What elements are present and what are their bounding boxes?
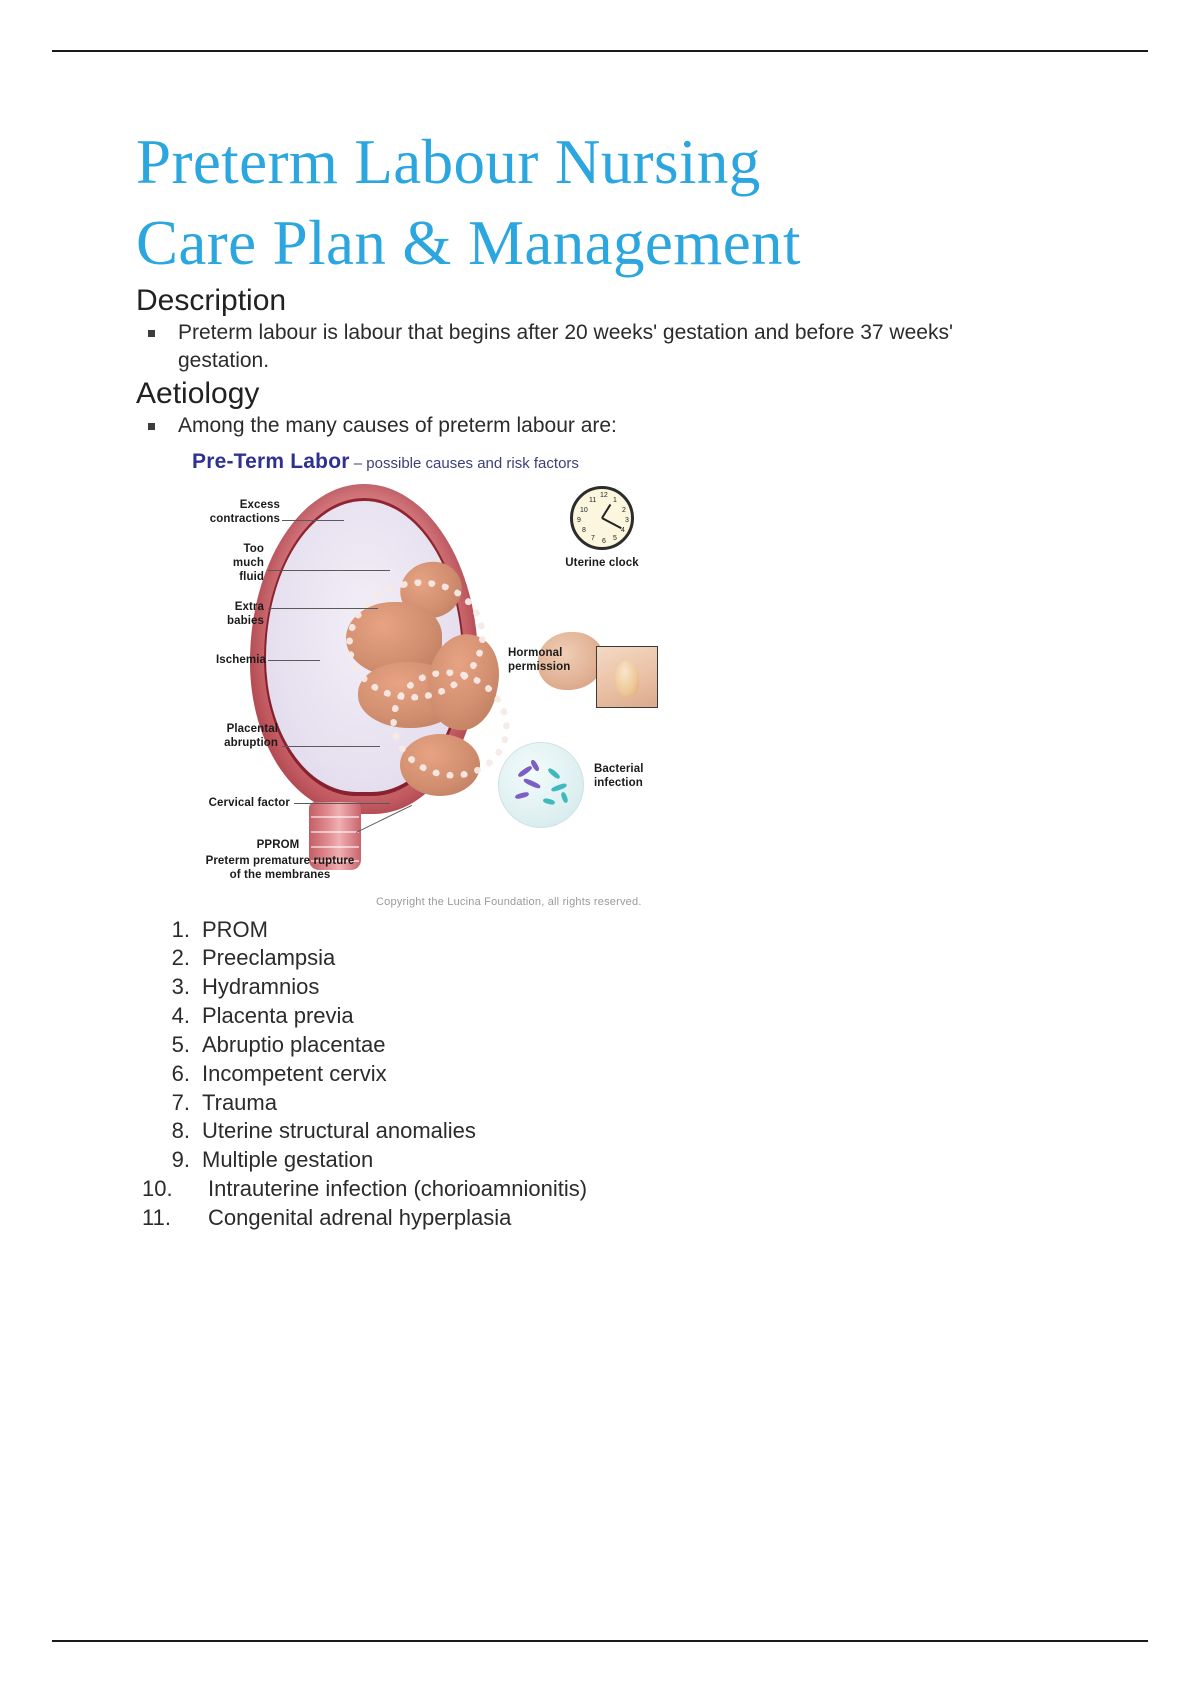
leader-line	[268, 570, 390, 571]
leader-line	[282, 520, 344, 521]
page-title: Preterm Labour Nursing Care Plan & Manag…	[136, 122, 1036, 283]
placental-abruption-label: Placental abruption	[176, 722, 278, 750]
list-number: 3.	[142, 973, 190, 1002]
square-bullet-icon	[148, 330, 155, 337]
bullet-text: Preterm labour is labour that begins aft…	[178, 321, 953, 372]
figure-title-bold: Pre-Term Labor	[192, 450, 350, 473]
square-bullet-icon	[148, 423, 155, 430]
list-item: 2.Preeclampsia	[136, 944, 1036, 973]
list-label: Congenital adrenal hyperplasia	[208, 1205, 511, 1230]
extra-babies-label: Extra babies	[186, 600, 264, 628]
list-label: Trauma	[202, 1090, 277, 1115]
list-item: 6.Incompetent cervix	[136, 1060, 1036, 1089]
list-number: 7.	[142, 1089, 190, 1118]
description-bullet-list: Preterm labour is labour that begins aft…	[136, 319, 1036, 375]
list-item: 11.Congenital adrenal hyperplasia	[136, 1204, 1036, 1233]
too-much-fluid-label: Too much fluid	[186, 542, 264, 584]
ischemia-label: Ischemia	[178, 653, 266, 667]
list-label: Intrauterine infection (chorioamnionitis…	[208, 1176, 587, 1201]
list-item: 8.Uterine structural anomalies	[136, 1117, 1036, 1146]
bacteria-illustration	[498, 742, 584, 828]
list-item: 9.Multiple gestation	[136, 1146, 1036, 1175]
uterine-clock-label: Uterine clock	[554, 556, 650, 570]
list-number: 10.	[142, 1175, 184, 1204]
list-label: Hydramnios	[202, 974, 319, 999]
figure-copyright: Copyright the Lucina Foundation, all rig…	[376, 896, 642, 908]
leader-line	[282, 746, 380, 747]
list-label: Abruptio placentae	[202, 1032, 385, 1057]
uterus-illustration	[250, 484, 478, 814]
document-content: Preterm Labour Nursing Care Plan & Manag…	[136, 122, 1036, 1233]
document-page: Preterm Labour Nursing Care Plan & Manag…	[0, 0, 1200, 1700]
list-label: Multiple gestation	[202, 1147, 373, 1172]
list-number: 2.	[142, 944, 190, 973]
figure-title-subtitle: – possible causes and risk factors	[350, 455, 579, 472]
bacterial-infection-label: Bacterial infection	[594, 762, 690, 790]
bullet-text: Among the many causes of preterm labour …	[178, 414, 617, 437]
list-number: 1.	[142, 916, 190, 945]
list-label: PROM	[202, 917, 268, 942]
pituitary-inset-box	[596, 646, 658, 708]
aetiology-bullet-list: Among the many causes of preterm labour …	[136, 412, 1036, 440]
aetiology-heading: Aetiology	[136, 376, 1036, 412]
pprom-abbrev-label: PPROM	[206, 838, 350, 852]
list-number: 11.	[142, 1204, 184, 1233]
causes-numbered-list: 1.PROM 2.Preeclampsia 3.Hydramnios 4.Pla…	[136, 916, 1036, 1233]
list-item: 4.Placenta previa	[136, 1002, 1036, 1031]
list-item: Preterm labour is labour that begins aft…	[136, 319, 1036, 375]
list-item: 3.Hydramnios	[136, 973, 1036, 1002]
list-label: Preeclampsia	[202, 945, 335, 970]
header-rule	[52, 50, 1148, 52]
list-item: 7.Trauma	[136, 1089, 1036, 1118]
excess-contractions-label: Excess contractions	[176, 498, 280, 526]
cervical-factor-label: Cervical factor	[176, 796, 290, 810]
list-number: 8.	[142, 1117, 190, 1146]
leader-line	[294, 803, 390, 804]
description-heading: Description	[136, 283, 1036, 319]
list-label: Uterine structural anomalies	[202, 1118, 476, 1143]
pprom-full-label: Preterm premature rupture of the membran…	[182, 854, 378, 882]
leader-line	[268, 660, 320, 661]
uterine-clock-icon: 12 1 2 3 4 5 6 7 8 9 10 11	[570, 486, 634, 550]
list-label: Placenta previa	[202, 1003, 354, 1028]
list-number: 6.	[142, 1060, 190, 1089]
list-number: 5.	[142, 1031, 190, 1060]
list-item: 1.PROM	[136, 916, 1036, 945]
hormonal-permission-label: Hormonal permission	[508, 646, 592, 674]
leader-line	[268, 608, 378, 609]
figure-title: Pre-Term Labor – possible causes and ris…	[192, 450, 579, 474]
preterm-labor-diagram: Pre-Term Labor – possible causes and ris…	[176, 450, 721, 910]
list-number: 4.	[142, 1002, 190, 1031]
list-item: 10.Intrauterine infection (chorioamnioni…	[136, 1175, 1036, 1204]
footer-rule	[52, 1640, 1148, 1642]
list-item: Among the many causes of preterm labour …	[136, 412, 1036, 440]
list-number: 9.	[142, 1146, 190, 1175]
list-item: 5.Abruptio placentae	[136, 1031, 1036, 1060]
list-label: Incompetent cervix	[202, 1061, 387, 1086]
